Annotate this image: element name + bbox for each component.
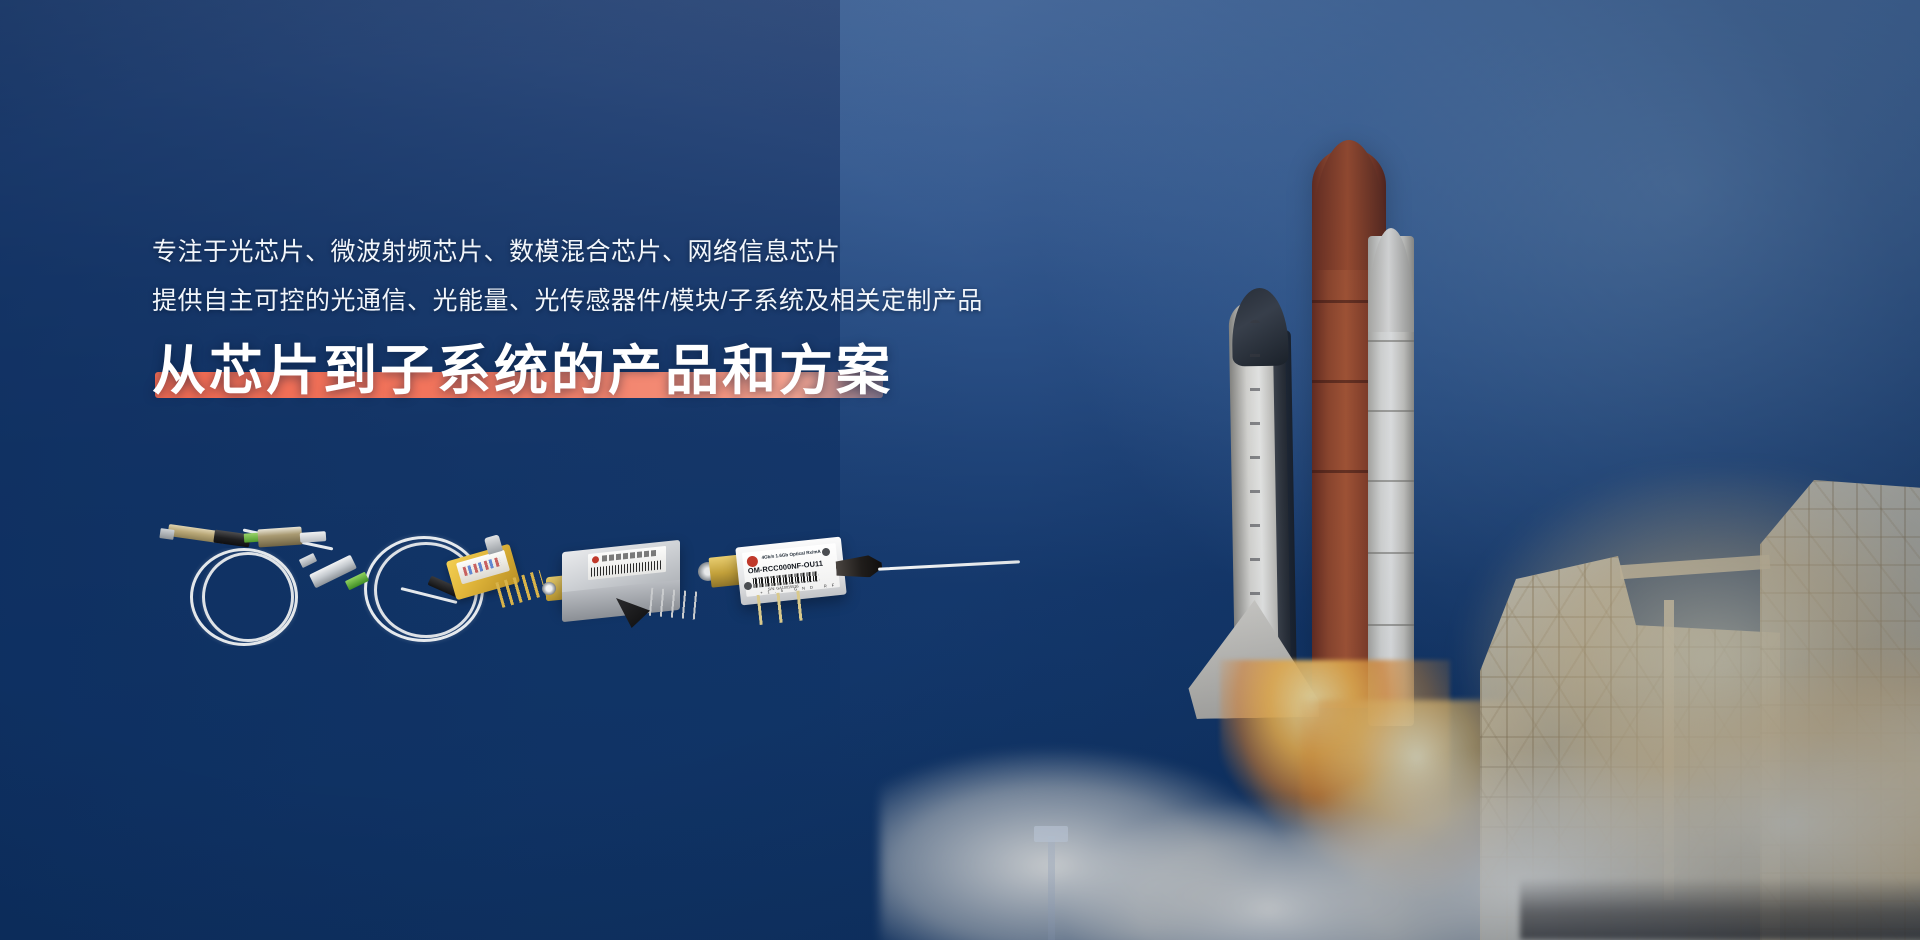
- module-pins: [757, 589, 818, 625]
- brand-logo-dot: [592, 556, 599, 564]
- hero-headline: 从芯片到子系统的产品和方案: [152, 340, 893, 402]
- vignette-overlay: [0, 0, 1920, 940]
- fiber-connector-tail: [300, 531, 327, 543]
- sma-connector-center: [542, 582, 556, 595]
- hero-subtitle-line-2: 提供自主可控的光通信、光能量、光传感器件/模块/子系统及相关定制产品: [152, 277, 1132, 326]
- module-pins: [649, 588, 705, 621]
- label-text-line: [602, 550, 658, 562]
- hero-banner: 专注于光芯片、微波射频芯片、数模混合芯片、网络信息芯片 提供自主可控的光通信、光…: [0, 0, 1920, 940]
- hero-subtitle-line-1: 专注于光芯片、微波射频芯片、数模混合芯片、网络信息芯片: [152, 228, 1132, 277]
- fiber-connector-ferrule: [299, 553, 317, 568]
- product-showcase-row: 4Gb/s 1.6Gb Optical Rx/mA OM-RCC000NF-OU…: [150, 520, 1150, 650]
- module-fiber-lead: [878, 560, 1020, 570]
- hero-headline-wrap: 从芯片到子系统的产品和方案: [152, 340, 893, 402]
- hero-copy-block: 专注于光芯片、微波射频芯片、数模混合芯片、网络信息芯片 提供自主可控的光通信、光…: [152, 228, 1132, 402]
- fiber-connector-ferrule: [159, 528, 174, 540]
- fiber-cable-loop: [202, 552, 294, 642]
- fiber-connector-gold: [257, 526, 302, 547]
- module-label-tagline: 4Gb/s 1.6Gb Optical Rx/mA: [761, 549, 821, 560]
